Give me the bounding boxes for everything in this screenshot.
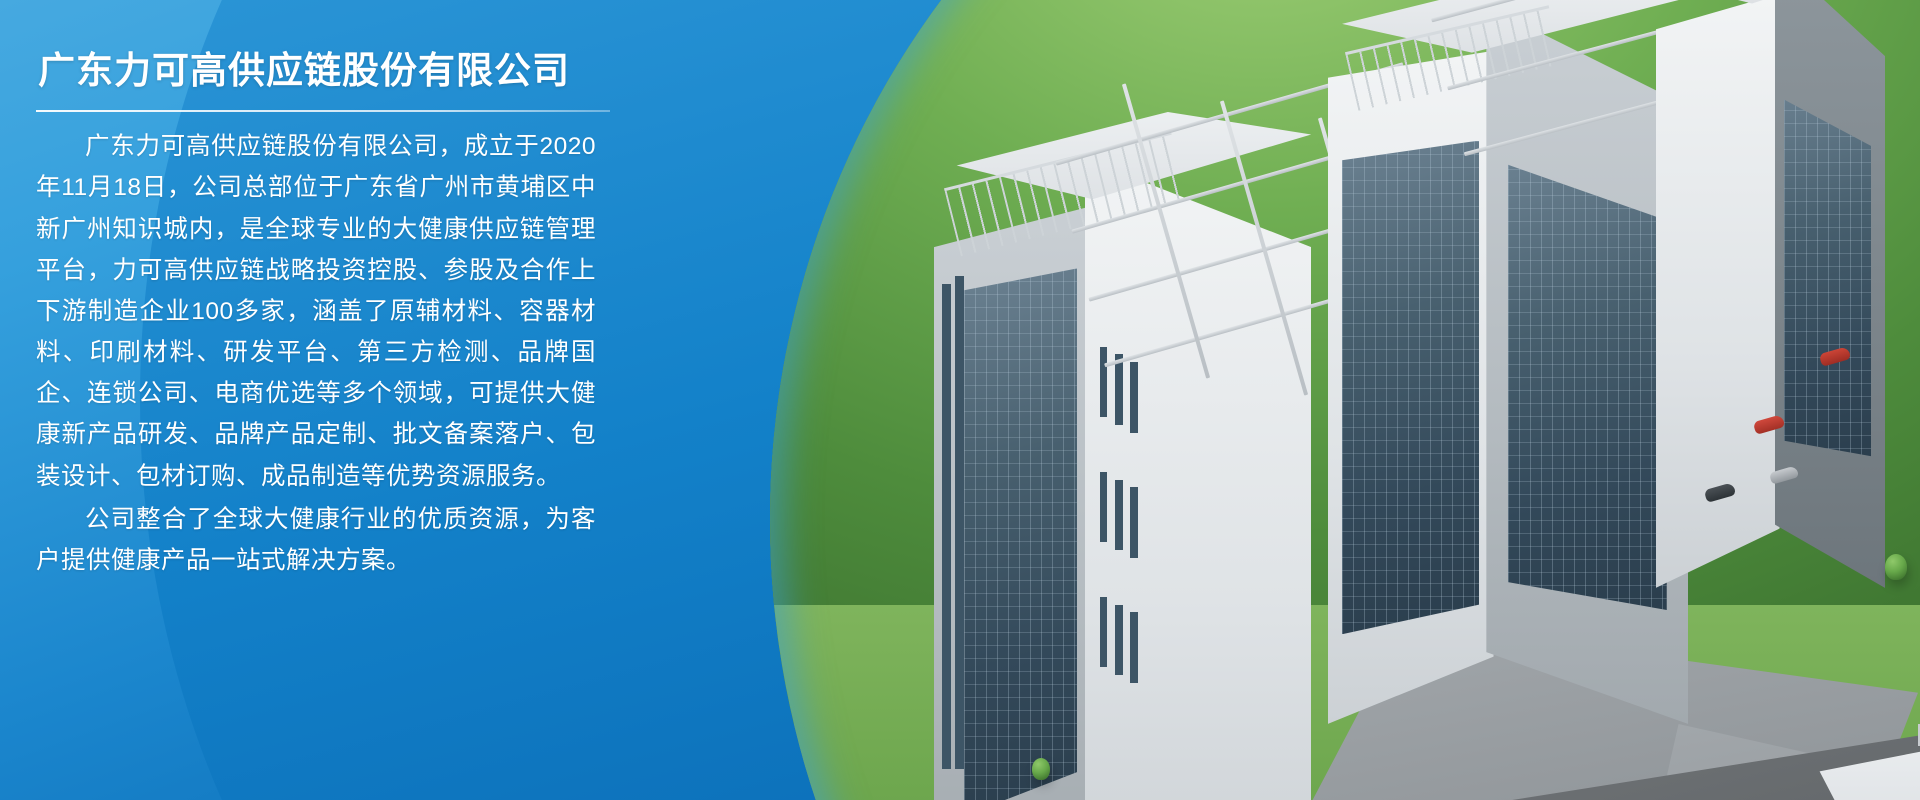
company-description-paragraph-2: 公司整合了全球大健康行业的优质资源，为客户提供健康产品一站式解决方案。 <box>36 499 596 581</box>
tower-a-slot-window <box>1130 612 1138 682</box>
tower-a-slot-window <box>1115 605 1123 675</box>
service-building <box>1787 724 1920 800</box>
campus-rendering-photo: 力可高供应链产业园 <box>770 0 1920 800</box>
page-title: 广东力可高供应链股份有限公司 <box>36 48 594 94</box>
tower-a-slot-window <box>1100 472 1108 542</box>
tower-b-right-glass <box>1508 156 1667 620</box>
photo-inner: 力可高供应链产业园 <box>770 0 1920 800</box>
tower-c-glass <box>1784 84 1871 472</box>
tower-a-slot-window <box>1115 480 1123 550</box>
tower-b-glass <box>1342 141 1479 635</box>
company-profile-banner: 力可高供应链产业园 <box>0 0 1920 800</box>
tree <box>1032 758 1050 780</box>
tower-a-slot-window <box>1100 597 1108 667</box>
tower-a-slot-window <box>1115 354 1123 424</box>
service-building-roof <box>1787 724 1920 800</box>
tower-a-glass-curtain <box>964 268 1077 800</box>
tower-a-slot-window <box>1130 362 1138 432</box>
title-divider <box>36 110 610 112</box>
tower-a-window-strip <box>955 276 964 769</box>
company-description-paragraph-1: 广东力可高供应链股份有限公司，成立于2020年11月18日，公司总部位于广东省广… <box>36 126 596 496</box>
tower-a-slot-window <box>1100 347 1108 417</box>
tower-a-slot-window <box>1130 487 1138 557</box>
text-panel: 广东力可高供应链股份有限公司 广东力可高供应链股份有限公司，成立于2020年11… <box>0 0 620 800</box>
office-tower-c <box>1656 0 1886 588</box>
tower-a-window-strip <box>942 284 951 769</box>
tree <box>1885 554 1907 580</box>
